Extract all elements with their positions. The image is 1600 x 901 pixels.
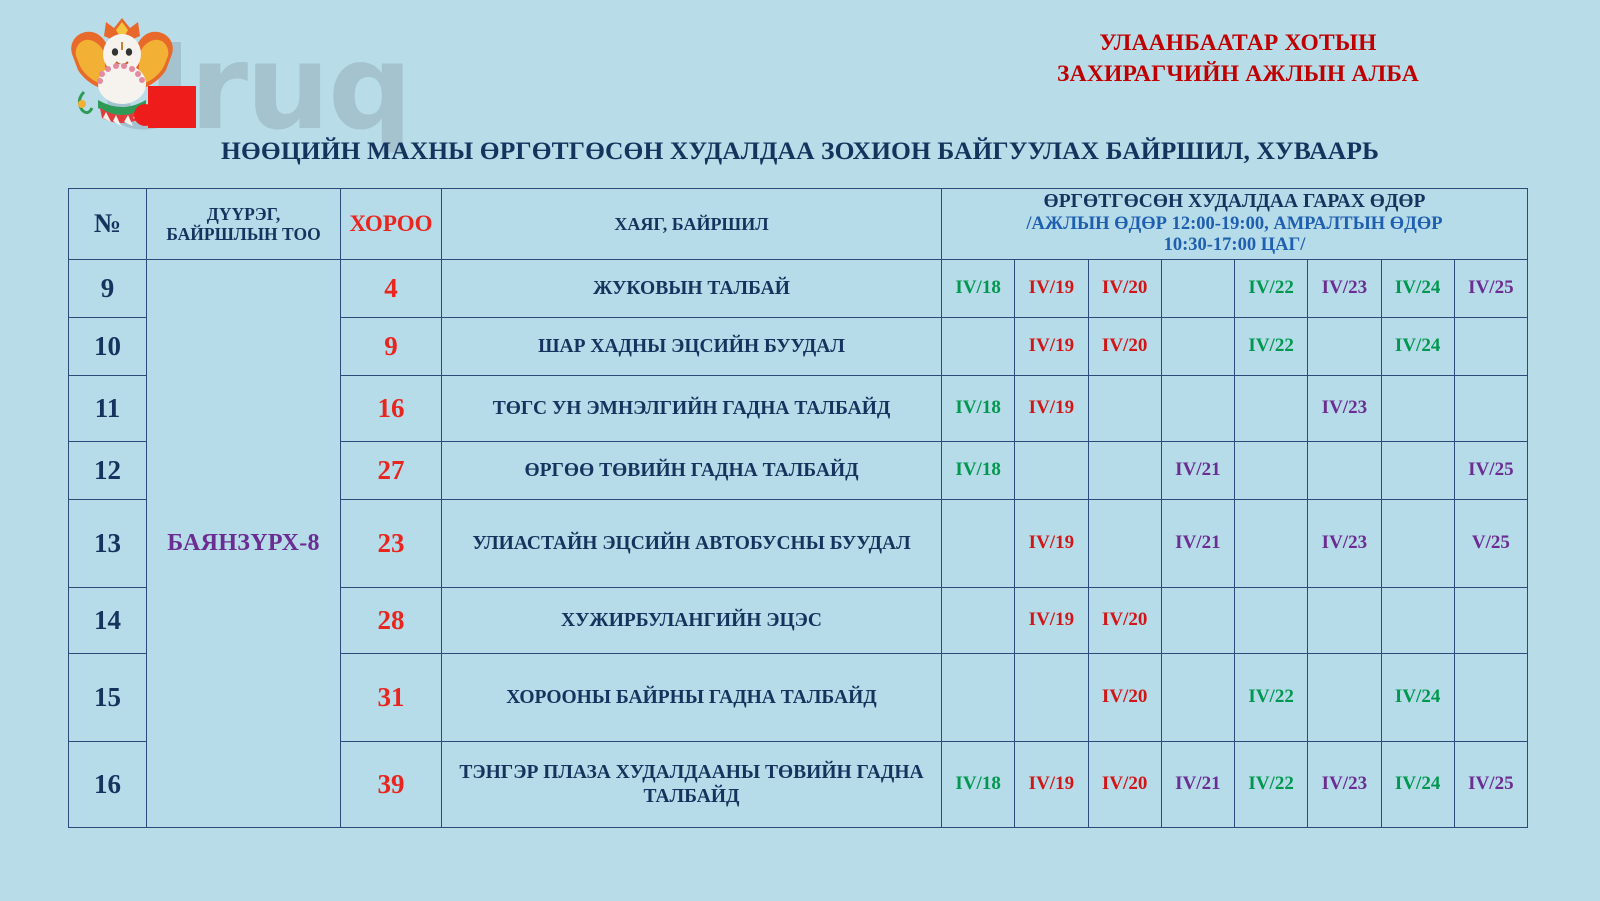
date-cell-empty [1235, 500, 1308, 588]
date-cell: IV/24 [1381, 742, 1454, 828]
dates-header-line2: /АЖЛЫН ӨДӨР 12:00-19:00, АМРАЛТЫН ӨДӨР [945, 214, 1524, 236]
date-cell: IV/21 [1161, 742, 1234, 828]
row-number: 14 [69, 588, 147, 654]
khoroo-number: 9 [341, 318, 442, 376]
page-title: НӨӨЦИЙН МАХНЫ ӨРГӨТГӨСӨН ХУДАЛДАА ЗОХИОН… [0, 136, 1600, 166]
address-location: ХОРООНЫ БАЙРНЫ ГАДНА ТАЛБАЙД [442, 654, 942, 742]
khoroo-number: 4 [341, 260, 442, 318]
table-header: № ДҮҮРЭГ, БАЙРШЛЫН ТОО ХОРОО ХАЯГ, БАЙРШ… [69, 189, 1528, 260]
ulaanbaatar-city-emblem-icon [58, 14, 186, 130]
date-cell-empty [1308, 318, 1381, 376]
date-cell-empty [942, 654, 1015, 742]
date-cell: IV/20 [1088, 260, 1161, 318]
date-cell-empty [1308, 588, 1381, 654]
address-location: ШАР ХАДНЫ ЭЦСИЙН БУУДАЛ [442, 318, 942, 376]
row-number: 16 [69, 742, 147, 828]
date-cell-empty [1088, 442, 1161, 500]
date-cell-empty [1161, 588, 1234, 654]
date-cell: IV/19 [1015, 500, 1088, 588]
row-number: 9 [69, 260, 147, 318]
date-cell: IV/23 [1308, 260, 1381, 318]
date-cell: IV/22 [1235, 742, 1308, 828]
date-cell-empty [1235, 442, 1308, 500]
date-cell: IV/25 [1454, 442, 1527, 500]
org-header-line1: УЛААНБААТАР ХОТЫН [898, 28, 1578, 59]
date-cell-empty [1235, 588, 1308, 654]
date-cell: IV/20 [1088, 742, 1161, 828]
col-header-district: ДҮҮРЭГ, БАЙРШЛЫН ТОО [147, 189, 341, 260]
org-header-line2: ЗАХИРАГЧИЙН АЖЛЫН АЛБА [898, 59, 1578, 90]
date-cell-empty [1161, 654, 1234, 742]
khoroo-number: 27 [341, 442, 442, 500]
schedule-table: № ДҮҮРЭГ, БАЙРШЛЫН ТОО ХОРОО ХАЯГ, БАЙРШ… [68, 188, 1528, 828]
col-header-address: ХАЯГ, БАЙРШИЛ [442, 189, 942, 260]
date-cell: IV/18 [942, 742, 1015, 828]
date-cell: IV/24 [1381, 260, 1454, 318]
date-cell: IV/25 [1454, 742, 1527, 828]
row-number: 12 [69, 442, 147, 500]
khoroo-number: 16 [341, 376, 442, 442]
date-cell-empty [1015, 654, 1088, 742]
row-number: 11 [69, 376, 147, 442]
date-cell: IV/19 [1015, 742, 1088, 828]
date-cell: IV/24 [1381, 318, 1454, 376]
khoroo-number: 28 [341, 588, 442, 654]
col-header-dates: ӨРГӨТГӨСӨН ХУДАЛДАА ГАРАХ ӨДӨР /АЖЛЫН ӨД… [942, 189, 1528, 260]
date-cell: IV/19 [1015, 260, 1088, 318]
date-cell: IV/18 [942, 260, 1015, 318]
col-header-khoroo: ХОРОО [341, 189, 442, 260]
date-cell: IV/20 [1088, 654, 1161, 742]
date-cell: IV/23 [1308, 742, 1381, 828]
address-location: ЖУКОВЫН ТАЛБАЙ [442, 260, 942, 318]
date-cell: IV/23 [1308, 500, 1381, 588]
date-cell-empty [942, 588, 1015, 654]
date-cell: IV/22 [1235, 260, 1308, 318]
date-cell-empty [1161, 260, 1234, 318]
date-cell: IV/19 [1015, 376, 1088, 442]
red-square-logo-icon [148, 86, 196, 128]
date-cell: IV/19 [1015, 588, 1088, 654]
date-cell-empty [1454, 588, 1527, 654]
date-cell-empty [1015, 442, 1088, 500]
date-cell: IV/20 [1088, 318, 1161, 376]
address-location: ӨРГӨӨ ТӨВИЙН ГАДНА ТАЛБАЙД [442, 442, 942, 500]
date-cell: IV/20 [1088, 588, 1161, 654]
organization-header: УЛААНБААТАР ХОТЫН ЗАХИРАГЧИЙН АЖЛЫН АЛБА [898, 28, 1578, 90]
date-cell-empty [1381, 500, 1454, 588]
date-cell: IV/21 [1161, 442, 1234, 500]
date-cell: IV/21 [1161, 500, 1234, 588]
date-cell-empty [1308, 442, 1381, 500]
khoroo-number: 23 [341, 500, 442, 588]
date-cell-empty [1161, 318, 1234, 376]
row-number: 15 [69, 654, 147, 742]
address-location: УЛИАСТАЙН ЭЦСИЙН АВТОБУСНЫ БУУДАЛ [442, 500, 942, 588]
date-cell-empty [1454, 376, 1527, 442]
date-cell: IV/25 [1454, 260, 1527, 318]
date-cell-empty [1088, 376, 1161, 442]
khoroo-number: 39 [341, 742, 442, 828]
date-cell-empty [942, 318, 1015, 376]
date-cell-empty [1381, 442, 1454, 500]
date-cell: IV/23 [1308, 376, 1381, 442]
date-cell-empty [1454, 318, 1527, 376]
address-location: ТЭНГЭР ПЛАЗА ХУДАЛДААНЫ ТӨВИЙН ГАДНА ТАЛ… [442, 742, 942, 828]
date-cell-empty [1088, 500, 1161, 588]
date-cell-empty [1381, 588, 1454, 654]
header-row: № ДҮҮРЭГ, БАЙРШЛЫН ТОО ХОРОО ХАЯГ, БАЙРШ… [69, 189, 1528, 260]
date-cell: IV/19 [1015, 318, 1088, 376]
date-cell: IV/22 [1235, 654, 1308, 742]
dates-header-line3: 10:30-17:00 ЦАГ/ [945, 235, 1524, 257]
row-number: 13 [69, 500, 147, 588]
district-label: БАЯНЗҮРХ-8 [147, 260, 341, 828]
dates-header-line1: ӨРГӨТГӨСӨН ХУДАЛДАА ГАРАХ ӨДӨР [945, 191, 1524, 214]
date-cell: V/25 [1454, 500, 1527, 588]
date-cell: IV/18 [942, 442, 1015, 500]
date-cell-empty [1381, 376, 1454, 442]
khoroo-number: 31 [341, 654, 442, 742]
date-cell-empty [1161, 376, 1234, 442]
address-location: ХУЖИРБУЛАНГИЙН ЭЦЭС [442, 588, 942, 654]
date-cell: IV/22 [1235, 318, 1308, 376]
table-body: 9БАЯНЗҮРХ-84ЖУКОВЫН ТАЛБАЙIV/18IV/19IV/2… [69, 260, 1528, 828]
table-row: 9БАЯНЗҮРХ-84ЖУКОВЫН ТАЛБАЙIV/18IV/19IV/2… [69, 260, 1528, 318]
col-header-number: № [69, 189, 147, 260]
row-number: 10 [69, 318, 147, 376]
date-cell: IV/18 [942, 376, 1015, 442]
date-cell-empty [1454, 654, 1527, 742]
date-cell-empty [1235, 376, 1308, 442]
date-cell-empty [942, 500, 1015, 588]
date-cell: IV/24 [1381, 654, 1454, 742]
address-location: ТӨГС УН ЭМНЭЛГИЙН ГАДНА ТАЛБАЙД [442, 376, 942, 442]
date-cell-empty [1308, 654, 1381, 742]
